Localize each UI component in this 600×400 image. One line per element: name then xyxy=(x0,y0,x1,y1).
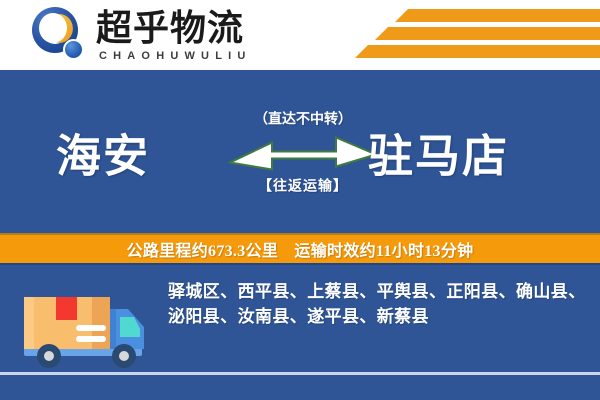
destination-city: 驻马店 xyxy=(368,119,509,184)
logo-dot-shape xyxy=(63,39,84,60)
route-section: 海安 （直达不中转） 【往返运输】 驻马店 xyxy=(0,70,600,233)
logistics-route-banner: 超乎物流 CHAOHUWULIU 海安 （直达不中转） 【往返运输】 驻马店 公… xyxy=(0,0,600,400)
coverage-areas-text: 驿城区、西平县、上蔡县、平舆县、正阳县、确山县、泌阳县、汝南县、遂平县、新蔡县 xyxy=(168,279,586,329)
distance-duration-text: 公路里程约673.3公里 运输时效约11小时13分钟 xyxy=(127,237,474,261)
brand-name: 超乎物流 xyxy=(96,9,252,47)
header-stripe-1 xyxy=(395,9,600,22)
header: 超乎物流 CHAOHUWULIU xyxy=(0,0,600,70)
route-note-direct: （直达不中转） xyxy=(228,108,378,128)
origin-city: 海安 xyxy=(56,119,150,184)
delivery-truck-icon xyxy=(20,279,155,371)
brand-logo: 超乎物流 CHAOHUWULIU xyxy=(30,6,252,66)
brand-wordmark: 超乎物流 CHAOHUWULIU xyxy=(96,9,252,63)
logo-crescent-cut-shape xyxy=(39,13,67,43)
circle-crescent-logo-icon xyxy=(30,6,90,66)
header-stripe-3 xyxy=(355,45,600,58)
brand-pinyin: CHAOHUWULIU xyxy=(96,49,252,63)
route-arrow-group: （直达不中转） 【往返运输】 xyxy=(228,108,378,195)
bottom-divider xyxy=(0,372,600,375)
double-headed-arrow-icon xyxy=(228,132,378,172)
header-stripe-2 xyxy=(375,27,600,40)
coverage-section: 驿城区、西平县、上蔡县、平舆县、正阳县、确山县、泌阳县、汝南县、遂平县、新蔡县 xyxy=(0,265,600,400)
distance-duration-band: 公路里程约673.3公里 运输时效约11小时13分钟 xyxy=(0,233,600,265)
route-note-roundtrip: 【往返运输】 xyxy=(228,175,378,195)
